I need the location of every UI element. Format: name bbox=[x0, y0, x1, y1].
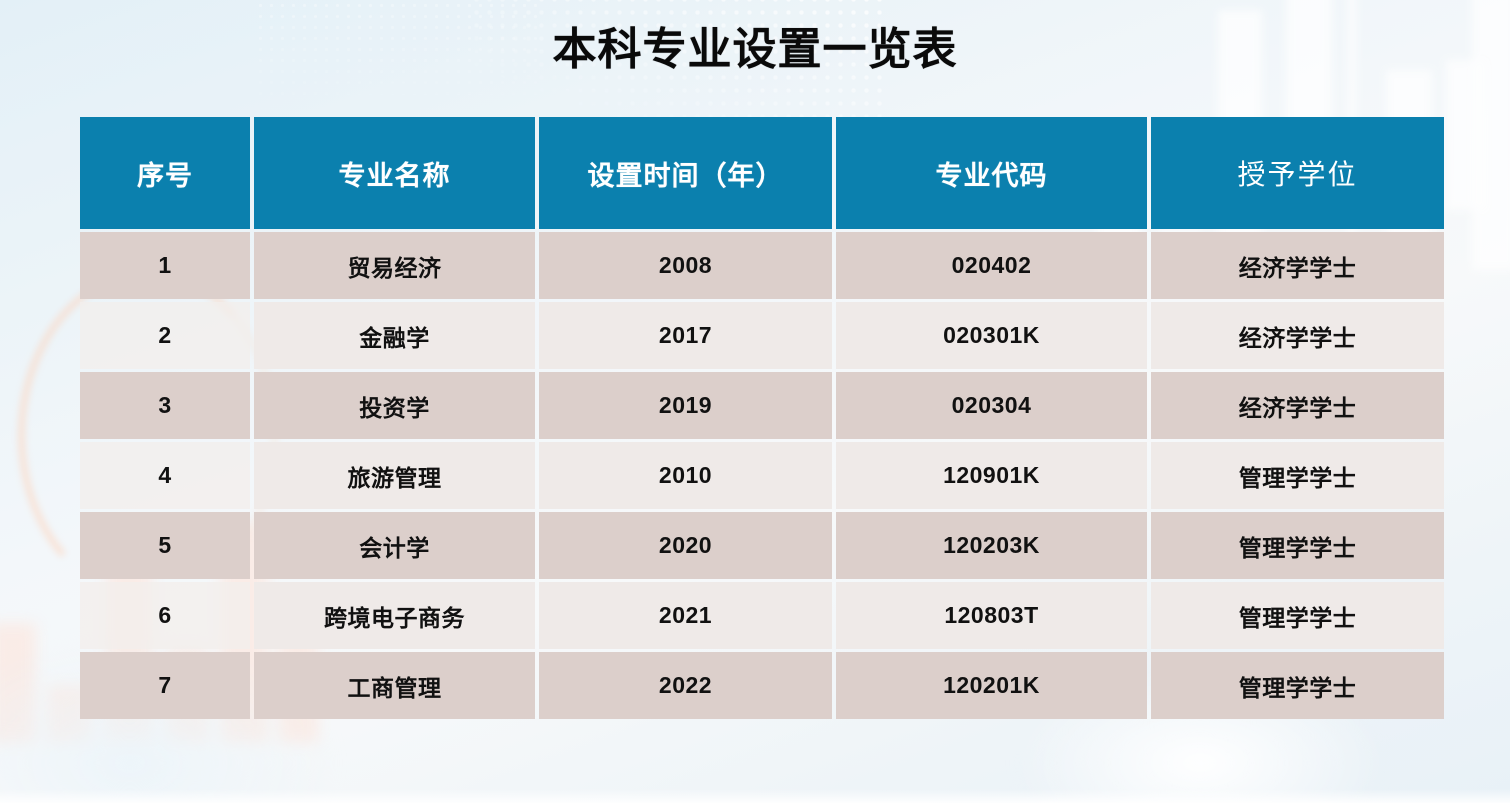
cell-name: 工商管理 bbox=[254, 652, 535, 719]
cell-code: 120901K bbox=[836, 442, 1147, 509]
cell-code: 020301K bbox=[836, 302, 1147, 369]
cell-name: 跨境电子商务 bbox=[254, 582, 535, 649]
cell-code: 020402 bbox=[836, 232, 1147, 299]
cell-year: 2017 bbox=[539, 302, 832, 369]
cell-degree: 经济学学士 bbox=[1151, 372, 1444, 439]
cell-year: 2008 bbox=[539, 232, 832, 299]
column-header-name: 专业名称 bbox=[254, 117, 535, 229]
cell-index: 6 bbox=[80, 582, 250, 649]
cell-index: 1 bbox=[80, 232, 250, 299]
cell-name: 投资学 bbox=[254, 372, 535, 439]
cell-degree: 管理学学士 bbox=[1151, 582, 1444, 649]
column-header-year: 设置时间（年） bbox=[539, 117, 832, 229]
table-row: 6 跨境电子商务 2021 120803T 管理学学士 bbox=[80, 582, 1444, 649]
cell-name: 会计学 bbox=[254, 512, 535, 579]
table-header-row: 序号 专业名称 设置时间（年） 专业代码 授予学位 bbox=[80, 117, 1444, 229]
column-header-code: 专业代码 bbox=[836, 117, 1147, 229]
cell-code: 120201K bbox=[836, 652, 1147, 719]
table-body: 1 贸易经济 2008 020402 经济学学士 2 金融学 2017 0203… bbox=[80, 232, 1444, 719]
page-title: 本科专业设置一览表 bbox=[0, 26, 1510, 74]
cell-code: 120203K bbox=[836, 512, 1147, 579]
table-row: 1 贸易经济 2008 020402 经济学学士 bbox=[80, 232, 1444, 299]
cell-index: 7 bbox=[80, 652, 250, 719]
table-row: 7 工商管理 2022 120201K 管理学学士 bbox=[80, 652, 1444, 719]
table-row: 3 投资学 2019 020304 经济学学士 bbox=[80, 372, 1444, 439]
cell-year: 2010 bbox=[539, 442, 832, 509]
table-row: 4 旅游管理 2010 120901K 管理学学士 bbox=[80, 442, 1444, 509]
table-row: 5 会计学 2020 120203K 管理学学士 bbox=[80, 512, 1444, 579]
cell-index: 2 bbox=[80, 302, 250, 369]
cell-year: 2020 bbox=[539, 512, 832, 579]
cell-degree: 管理学学士 bbox=[1151, 442, 1444, 509]
undergraduate-majors-table: 序号 专业名称 设置时间（年） 专业代码 授予学位 1 贸易经济 2008 02… bbox=[76, 114, 1448, 722]
column-header-index: 序号 bbox=[80, 117, 250, 229]
cell-year: 2021 bbox=[539, 582, 832, 649]
cell-code: 120803T bbox=[836, 582, 1147, 649]
cell-index: 5 bbox=[80, 512, 250, 579]
cell-name: 金融学 bbox=[254, 302, 535, 369]
cell-index: 4 bbox=[80, 442, 250, 509]
column-header-degree: 授予学位 bbox=[1151, 117, 1444, 229]
cell-code: 020304 bbox=[836, 372, 1147, 439]
cell-degree: 经济学学士 bbox=[1151, 232, 1444, 299]
cell-index: 3 bbox=[80, 372, 250, 439]
table-header: 序号 专业名称 设置时间（年） 专业代码 授予学位 bbox=[80, 117, 1444, 229]
cell-degree: 管理学学士 bbox=[1151, 512, 1444, 579]
cell-degree: 经济学学士 bbox=[1151, 302, 1444, 369]
cell-name: 旅游管理 bbox=[254, 442, 535, 509]
cell-name: 贸易经济 bbox=[254, 232, 535, 299]
table-row: 2 金融学 2017 020301K 经济学学士 bbox=[80, 302, 1444, 369]
cell-degree: 管理学学士 bbox=[1151, 652, 1444, 719]
cell-year: 2019 bbox=[539, 372, 832, 439]
cell-year: 2022 bbox=[539, 652, 832, 719]
